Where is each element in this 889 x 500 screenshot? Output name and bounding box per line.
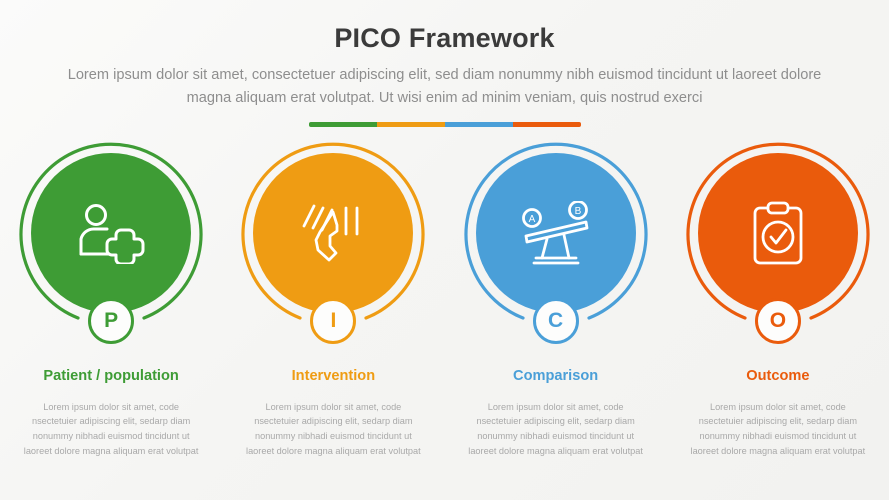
badge-letter-text: I: [330, 309, 336, 333]
pico-item-comparison[interactable]: A B C Comparison Lorem ipsum dolor sit a…: [445, 140, 667, 459]
divider-segment-orange: [377, 122, 445, 127]
divider-segment-blue: [445, 122, 513, 127]
inner-circle-intervention: [253, 153, 413, 313]
person-plus-icon: [76, 202, 146, 264]
badge-letter-text: C: [548, 309, 563, 333]
column-body-patient: Lorem ipsum dolor sit amet, code nsectet…: [21, 400, 201, 460]
pico-item-intervention[interactable]: I Intervention Lorem ipsum dolor sit ame…: [222, 140, 444, 459]
divider-segment-red: [513, 122, 581, 127]
column-title-intervention: Intervention: [292, 368, 376, 386]
pico-columns: P Patient / population Lorem ipsum dolor…: [0, 140, 889, 459]
inner-circle-patient: [31, 153, 191, 313]
column-body-comparison: Lorem ipsum dolor sit amet, code nsectet…: [466, 400, 646, 460]
badge-letter-p: P: [88, 298, 134, 344]
circle-cluster-outcome: O: [685, 140, 871, 326]
badge-letter-o: O: [755, 298, 801, 344]
column-body-intervention: Lorem ipsum dolor sit amet, code nsectet…: [243, 400, 423, 460]
divider-segment-green: [309, 122, 377, 127]
seesaw-label-a: A: [528, 214, 535, 225]
header: PICO Framework Lorem ipsum dolor sit ame…: [0, 0, 889, 109]
circle-cluster-comparison: A B C: [463, 140, 649, 326]
seesaw-balance-icon: A B: [520, 201, 592, 265]
badge-letter-text: O: [770, 309, 786, 333]
column-title-patient: Patient / population: [43, 368, 178, 386]
seesaw-label-b: B: [574, 206, 581, 217]
column-title-outcome: Outcome: [746, 368, 809, 386]
column-body-outcome: Lorem ipsum dolor sit amet, code nsectet…: [688, 400, 868, 460]
badge-letter-text: P: [104, 309, 118, 333]
column-title-comparison: Comparison: [513, 368, 598, 386]
pico-item-outcome[interactable]: O Outcome Lorem ipsum dolor sit amet, co…: [667, 140, 889, 459]
clipboard-check-icon: [750, 200, 806, 266]
pico-framework-infographic: PICO Framework Lorem ipsum dolor sit ame…: [0, 0, 889, 500]
circle-cluster-intervention: I: [240, 140, 426, 326]
inner-circle-outcome: [698, 153, 858, 313]
hand-therapy-icon: [300, 200, 366, 266]
circle-cluster-patient: P: [18, 140, 204, 326]
badge-letter-c: C: [533, 298, 579, 344]
inner-circle-comparison: A B: [476, 153, 636, 313]
page-subtitle: Lorem ipsum dolor sit amet, consectetuer…: [60, 64, 830, 108]
badge-letter-i: I: [310, 298, 356, 344]
page-title: PICO Framework: [0, 22, 889, 54]
pico-item-patient[interactable]: P Patient / population Lorem ipsum dolor…: [0, 140, 222, 459]
color-divider-bar: [309, 122, 581, 127]
